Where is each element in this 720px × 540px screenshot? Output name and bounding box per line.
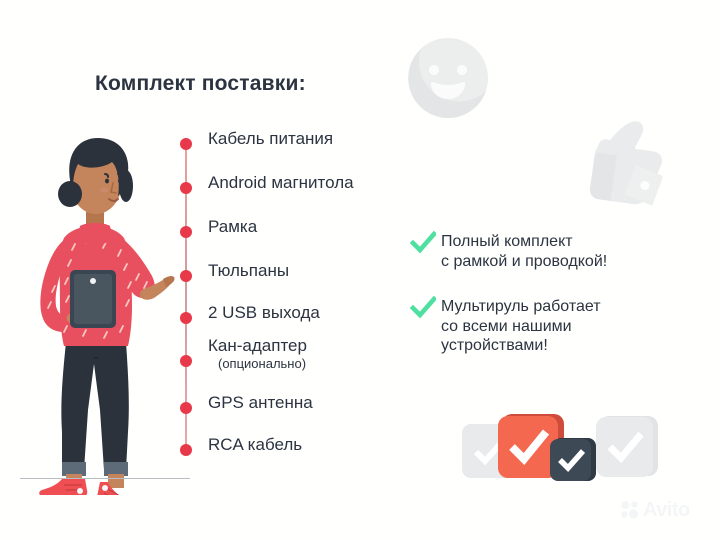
- bullet-dot-icon: [180, 182, 192, 194]
- bullet-dot-icon: [180, 312, 192, 324]
- list-item-label: GPS антенна: [208, 394, 313, 412]
- green-check-icon: [410, 295, 436, 321]
- checkbox-tile-dark: [550, 438, 596, 484]
- promo-card: Комплект поставки: Кабель питания Androi…: [0, 0, 720, 540]
- list-item-label: Рамка: [208, 218, 257, 236]
- list-item-label: Кан-адаптер (опционально): [208, 337, 307, 370]
- list-item-label: Тюльпаны: [208, 262, 289, 280]
- benefit-callout: Мультируль работает со всеми нашими устр…: [410, 297, 601, 356]
- bullet-dot-icon: [180, 402, 192, 414]
- bullet-dot-icon: [180, 355, 192, 367]
- list-item-label: RCA кабель: [208, 436, 302, 454]
- avito-wordmark: Avito: [643, 500, 690, 520]
- bullet-dot-icon: [180, 226, 192, 238]
- page-title: Комплект поставки:: [95, 72, 306, 96]
- list-item-label: Кабель питания: [208, 130, 333, 148]
- thumbs-up-icon: [572, 110, 670, 213]
- list-item-note: (опционально): [218, 357, 307, 371]
- benefit-text: Мультируль работает со всеми нашими устр…: [441, 297, 601, 356]
- smiley-face-icon: [406, 36, 490, 120]
- checkbox-tiles-group: [462, 410, 627, 490]
- benefit-text: Полный комплект с рамкой и проводкой!: [441, 232, 607, 271]
- list-item-label: 2 USB выхода: [208, 304, 320, 322]
- bullet-dot-icon: [180, 270, 192, 282]
- green-check-icon: [410, 230, 436, 256]
- list-item-label: Android магнитола: [208, 174, 354, 192]
- package-list: Кабель питания Android магнитола Рамка Т…: [180, 138, 430, 458]
- woman-pointing-illustration: [8, 110, 188, 495]
- avito-watermark: Avito: [620, 500, 690, 520]
- bullet-dot-icon: [180, 444, 192, 456]
- list-item-main-text: Кан-адаптер: [208, 336, 307, 355]
- ground-line: [20, 478, 190, 479]
- avito-logo-icon: [620, 500, 640, 520]
- bullet-dot-icon: [180, 138, 192, 150]
- checkbox-tile-gray-right: [596, 416, 658, 478]
- benefit-callout: Полный комплект с рамкой и проводкой!: [410, 232, 607, 271]
